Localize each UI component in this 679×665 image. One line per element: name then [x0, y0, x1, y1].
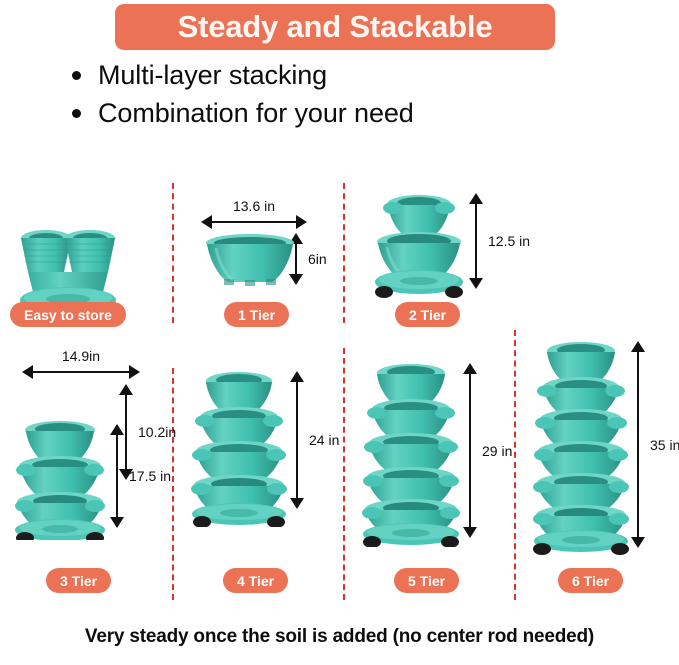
arrow-right-icon — [296, 215, 307, 229]
dimension-line — [116, 431, 118, 521]
height-label: 29 in — [482, 443, 512, 459]
dimension-line — [296, 378, 298, 502]
list-item: Multi-layer stacking — [72, 56, 592, 94]
height-dimension: 24 in — [290, 371, 304, 509]
panel-tier-6: 35 in — [514, 327, 679, 600]
height-label: 24 in — [309, 432, 339, 448]
panel-tier-5: 29 in — [343, 345, 514, 600]
bullet-dot-icon — [72, 71, 81, 80]
panel-easy-to-store: 14.9in 10.2in — [0, 170, 172, 325]
dimension-line — [637, 348, 639, 541]
planter-illustration-5-tier — [361, 361, 461, 547]
panel-label-tier-5: 5 Tier — [394, 568, 459, 593]
height-label: 35 in — [650, 437, 679, 453]
arrow-down-icon — [631, 537, 645, 548]
panel-label-tier-6: 6 Tier — [558, 568, 623, 593]
panel-tier-1: 13.6 in 6in 1 Tier — [172, 170, 343, 325]
width-label: 13.6 in — [233, 198, 275, 214]
arrow-right-icon — [129, 365, 140, 379]
bullet-label: Combination for your need — [98, 98, 414, 129]
bullet-label: Multi-layer stacking — [98, 60, 327, 91]
planter-illustration-3-tier — [12, 418, 108, 540]
dimension-line — [208, 221, 300, 223]
panel-label-tier-1: 1 Tier — [224, 302, 289, 327]
footer-caption: Very steady once the soil is added (no c… — [0, 626, 679, 648]
panel-label-tier-2: 2 Tier — [395, 302, 460, 327]
panel-tier-3: 17.5 in — [0, 400, 172, 600]
height-label: 17.5 in — [129, 468, 171, 484]
panel-label-easy-to-store: Easy to store — [10, 302, 126, 327]
panel-label-tier-3: 3 Tier — [46, 568, 111, 593]
bullet-dot-icon — [72, 109, 81, 118]
arrow-down-icon — [290, 498, 304, 509]
height-label: 12.5 in — [488, 233, 530, 249]
planter-illustration-4-tier — [189, 369, 289, 527]
panel-label-tier-4: 4 Tier — [223, 568, 288, 593]
dimension-line — [475, 200, 477, 282]
height-dimension: 12.5 in — [469, 193, 483, 289]
height-dimension: 17.5 in — [110, 424, 124, 528]
arrow-down-icon — [110, 517, 124, 528]
width-label: 14.9in — [62, 348, 100, 364]
panel-tier-4: 24 in — [172, 365, 343, 600]
height-dimension: 29 in — [463, 363, 477, 538]
title-badge: Steady and Stackable — [115, 4, 555, 50]
dimension-line — [469, 370, 471, 531]
page-title: Steady and Stackable — [178, 9, 493, 45]
feature-bullet-list: Multi-layer stacking Combination for you… — [72, 56, 592, 132]
panel-tier-2: 12.5 in — [343, 170, 514, 325]
planter-illustration-6-tier — [532, 339, 630, 555]
planter-illustration-2-tier — [371, 190, 467, 298]
height-label: 6in — [308, 251, 327, 267]
width-dimension: 13.6 in — [201, 215, 307, 229]
height-dimension: 35 in — [631, 341, 645, 548]
arrow-down-icon — [469, 278, 483, 289]
infographic-root: Steady and Stackable Multi-layer stackin… — [0, 0, 679, 665]
arrow-down-icon — [463, 527, 477, 538]
list-item: Combination for your need — [72, 94, 592, 132]
dimension-line — [29, 371, 133, 373]
planter-illustration-1-tier — [200, 232, 300, 290]
width-dimension: 14.9in — [22, 365, 140, 379]
